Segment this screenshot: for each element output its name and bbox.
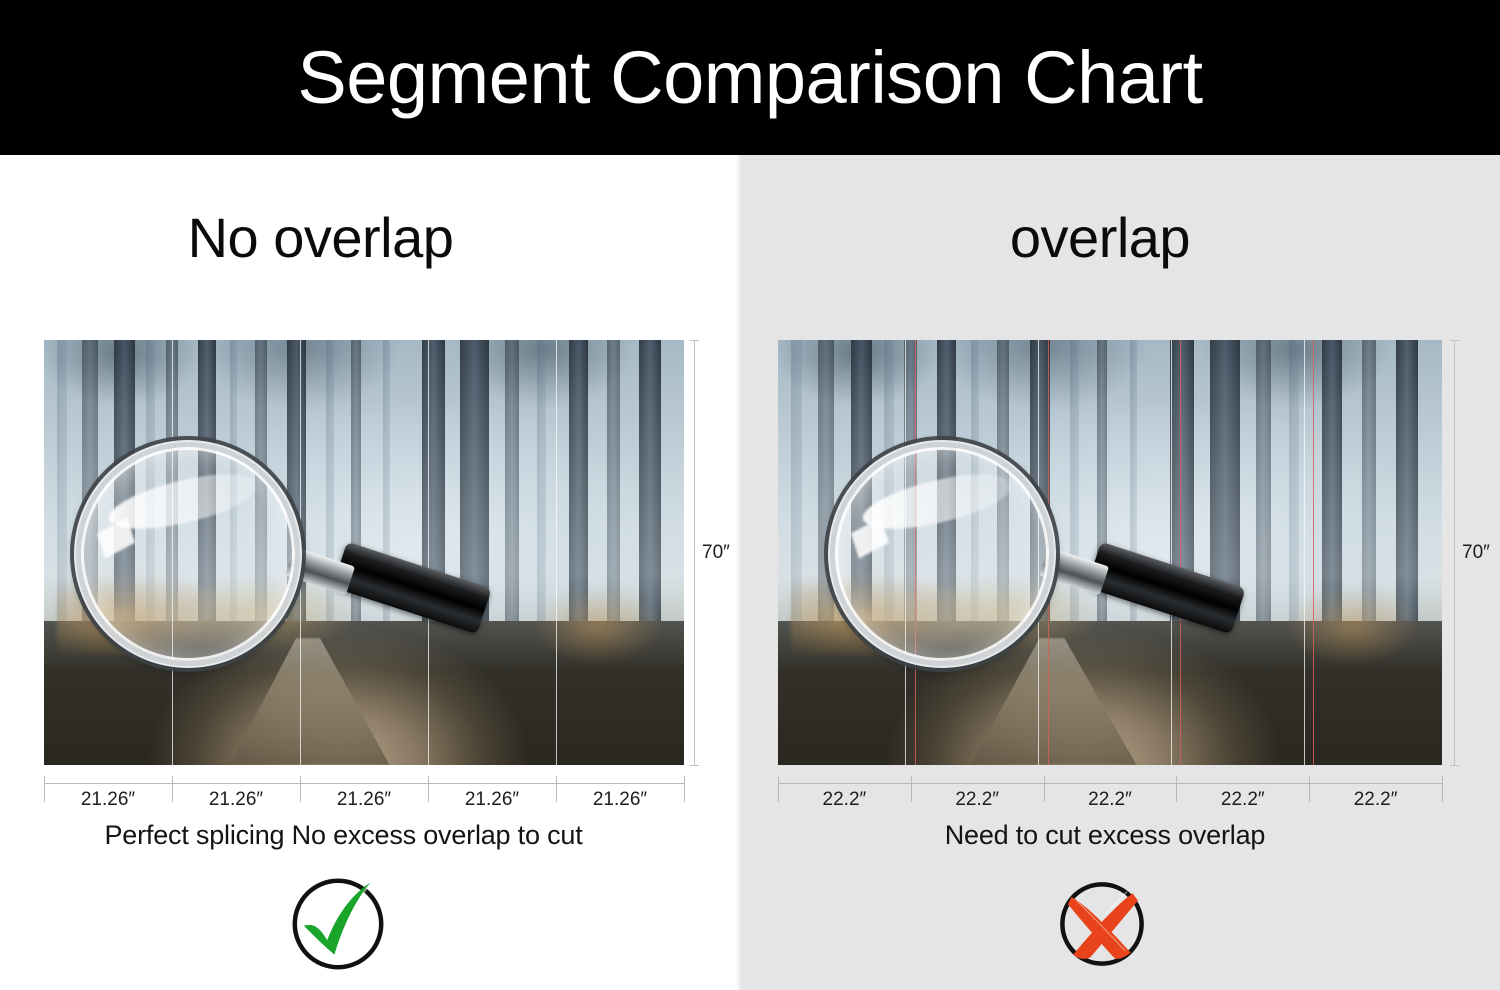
status-badge-check xyxy=(0,870,706,978)
segment-width-label: 22.2″ xyxy=(778,789,911,811)
height-label: 70″ xyxy=(702,542,730,564)
dimension-line xyxy=(1454,340,1455,765)
dimension-line xyxy=(44,783,684,784)
segment-width-label: 21.26″ xyxy=(172,789,300,811)
autumn-foliage-right xyxy=(498,578,664,663)
panel-overlap: overlap xyxy=(740,155,1500,990)
panel-caption-overlap: Need to cut excess overlap xyxy=(725,820,1485,851)
forest-image-block-right xyxy=(778,340,1442,765)
height-dimension-left: 70″ xyxy=(690,340,736,765)
segment-comparison-chart-page: Segment Comparison Chart No overlap xyxy=(0,0,1500,990)
segment-seam xyxy=(1304,340,1305,765)
overlap-seam xyxy=(1313,340,1314,765)
height-dimension-right: 70″ xyxy=(1450,340,1496,765)
segment-width-label: 22.2″ xyxy=(1044,789,1177,811)
dimension-line xyxy=(778,783,1442,784)
segment-width-label: 22.2″ xyxy=(1309,789,1442,811)
forest-image-block-left xyxy=(44,340,684,765)
panel-heading-no-overlap: No overlap xyxy=(0,205,689,270)
autumn-foliage-left xyxy=(791,561,1189,655)
autumn-foliage-left xyxy=(57,561,441,655)
height-label: 70″ xyxy=(1462,542,1490,564)
forest-photo-right xyxy=(778,340,1442,765)
dimension-line xyxy=(694,340,695,765)
overlap-seam xyxy=(1048,340,1049,765)
panel-heading-overlap: overlap xyxy=(720,205,1480,270)
comparison-panels: No overlap xyxy=(0,155,1500,990)
title-banner: Segment Comparison Chart xyxy=(0,0,1500,155)
segment-seam xyxy=(556,340,557,765)
segment-seam xyxy=(300,340,301,765)
segment-width-label: 22.2″ xyxy=(1176,789,1309,811)
panel-no-overlap: No overlap xyxy=(0,155,737,990)
segment-width-label: 21.26″ xyxy=(44,789,172,811)
segment-seam xyxy=(172,340,173,765)
overlap-seam xyxy=(915,340,916,765)
forest-photo-left xyxy=(44,340,684,765)
segment-seam xyxy=(428,340,429,765)
segment-width-label: 22.2″ xyxy=(911,789,1044,811)
segment-seam xyxy=(905,340,906,765)
segment-width-label: 21.26″ xyxy=(300,789,428,811)
check-badge-icon xyxy=(284,870,392,978)
overlap-seam xyxy=(1180,340,1181,765)
status-badge-cross xyxy=(722,870,1482,978)
autumn-foliage-right xyxy=(1249,578,1422,663)
panel-caption-no-overlap: Perfect splicing No excess overlap to cu… xyxy=(0,820,712,851)
segment-seam xyxy=(1171,340,1172,765)
segment-width-label: 21.26″ xyxy=(428,789,556,811)
cross-badge-icon xyxy=(1048,870,1156,978)
page-title: Segment Comparison Chart xyxy=(297,35,1202,120)
segment-width-label: 21.26″ xyxy=(556,789,684,811)
segment-seam xyxy=(1038,340,1039,765)
